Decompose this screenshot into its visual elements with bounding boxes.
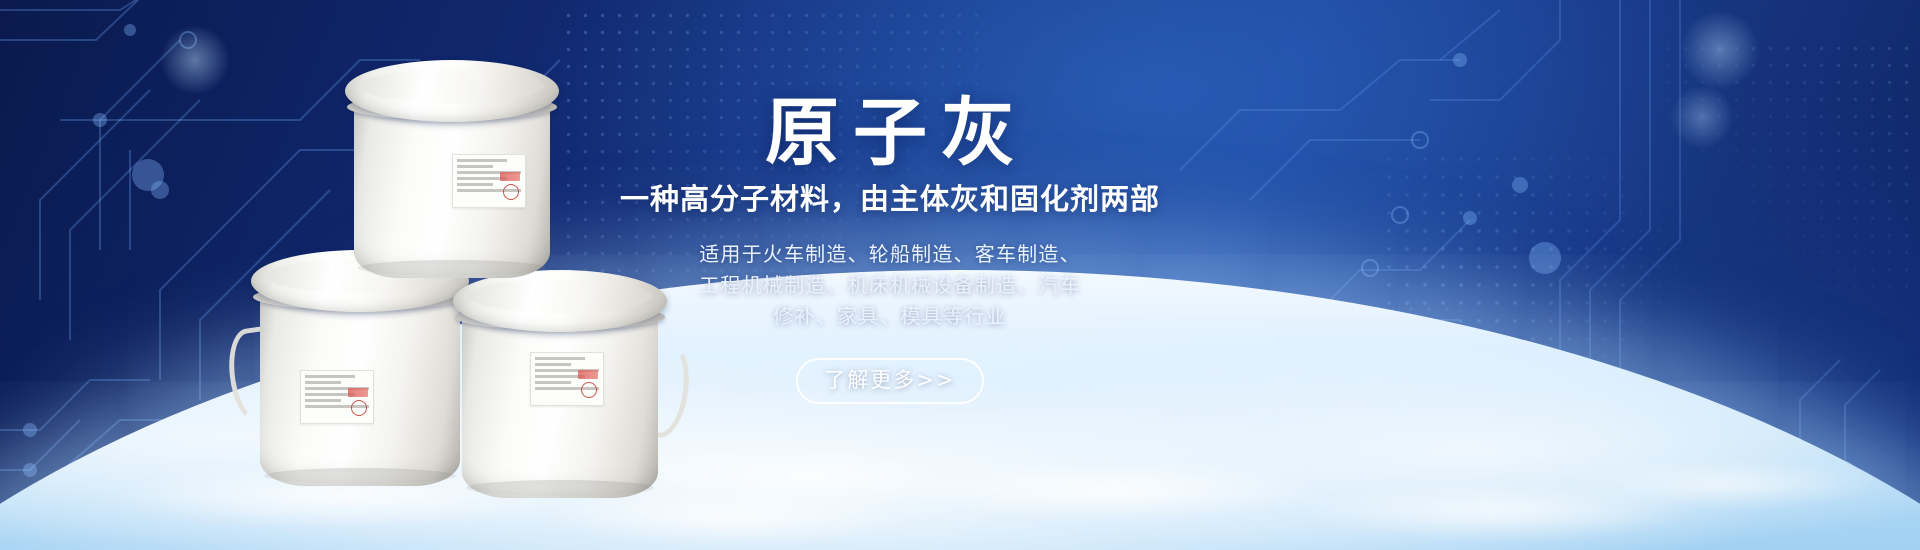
description-line-3: 修补、家具、模具等行业: [610, 301, 1170, 332]
bucket-label: [300, 370, 374, 424]
bucket-lid: [345, 60, 559, 122]
banner-content: 原子灰 一种高分子材料，由主体灰和固化剂两部 适用于火车制造、轮船制造、客车制造…: [610, 96, 1170, 404]
banner-subtitle: 一种高分子材料，由主体灰和固化剂两部: [610, 182, 1170, 217]
cta-container: 了解更多>>: [610, 358, 1170, 404]
description-line-1: 适用于火车制造、轮船制造、客车制造、: [610, 239, 1170, 270]
bucket-label: [452, 154, 526, 208]
bucket-top: [354, 60, 550, 278]
promo-banner: 原子灰 一种高分子材料，由主体灰和固化剂两部 适用于火车制造、轮船制造、客车制造…: [0, 0, 1920, 550]
description-line-2: 工程机械制造、机床机械设备制造、汽车: [610, 270, 1170, 301]
bucket-label: [530, 352, 604, 406]
banner-description: 适用于火车制造、轮船制造、客车制造、 工程机械制造、机床机械设备制造、汽车 修补…: [610, 239, 1170, 332]
learn-more-button[interactable]: 了解更多>>: [796, 358, 983, 404]
halftone-dots-corner: [1660, 40, 1920, 300]
product-image-buckets: [250, 60, 670, 490]
banner-title: 原子灰: [610, 96, 1170, 170]
bucket-left: [260, 250, 460, 486]
